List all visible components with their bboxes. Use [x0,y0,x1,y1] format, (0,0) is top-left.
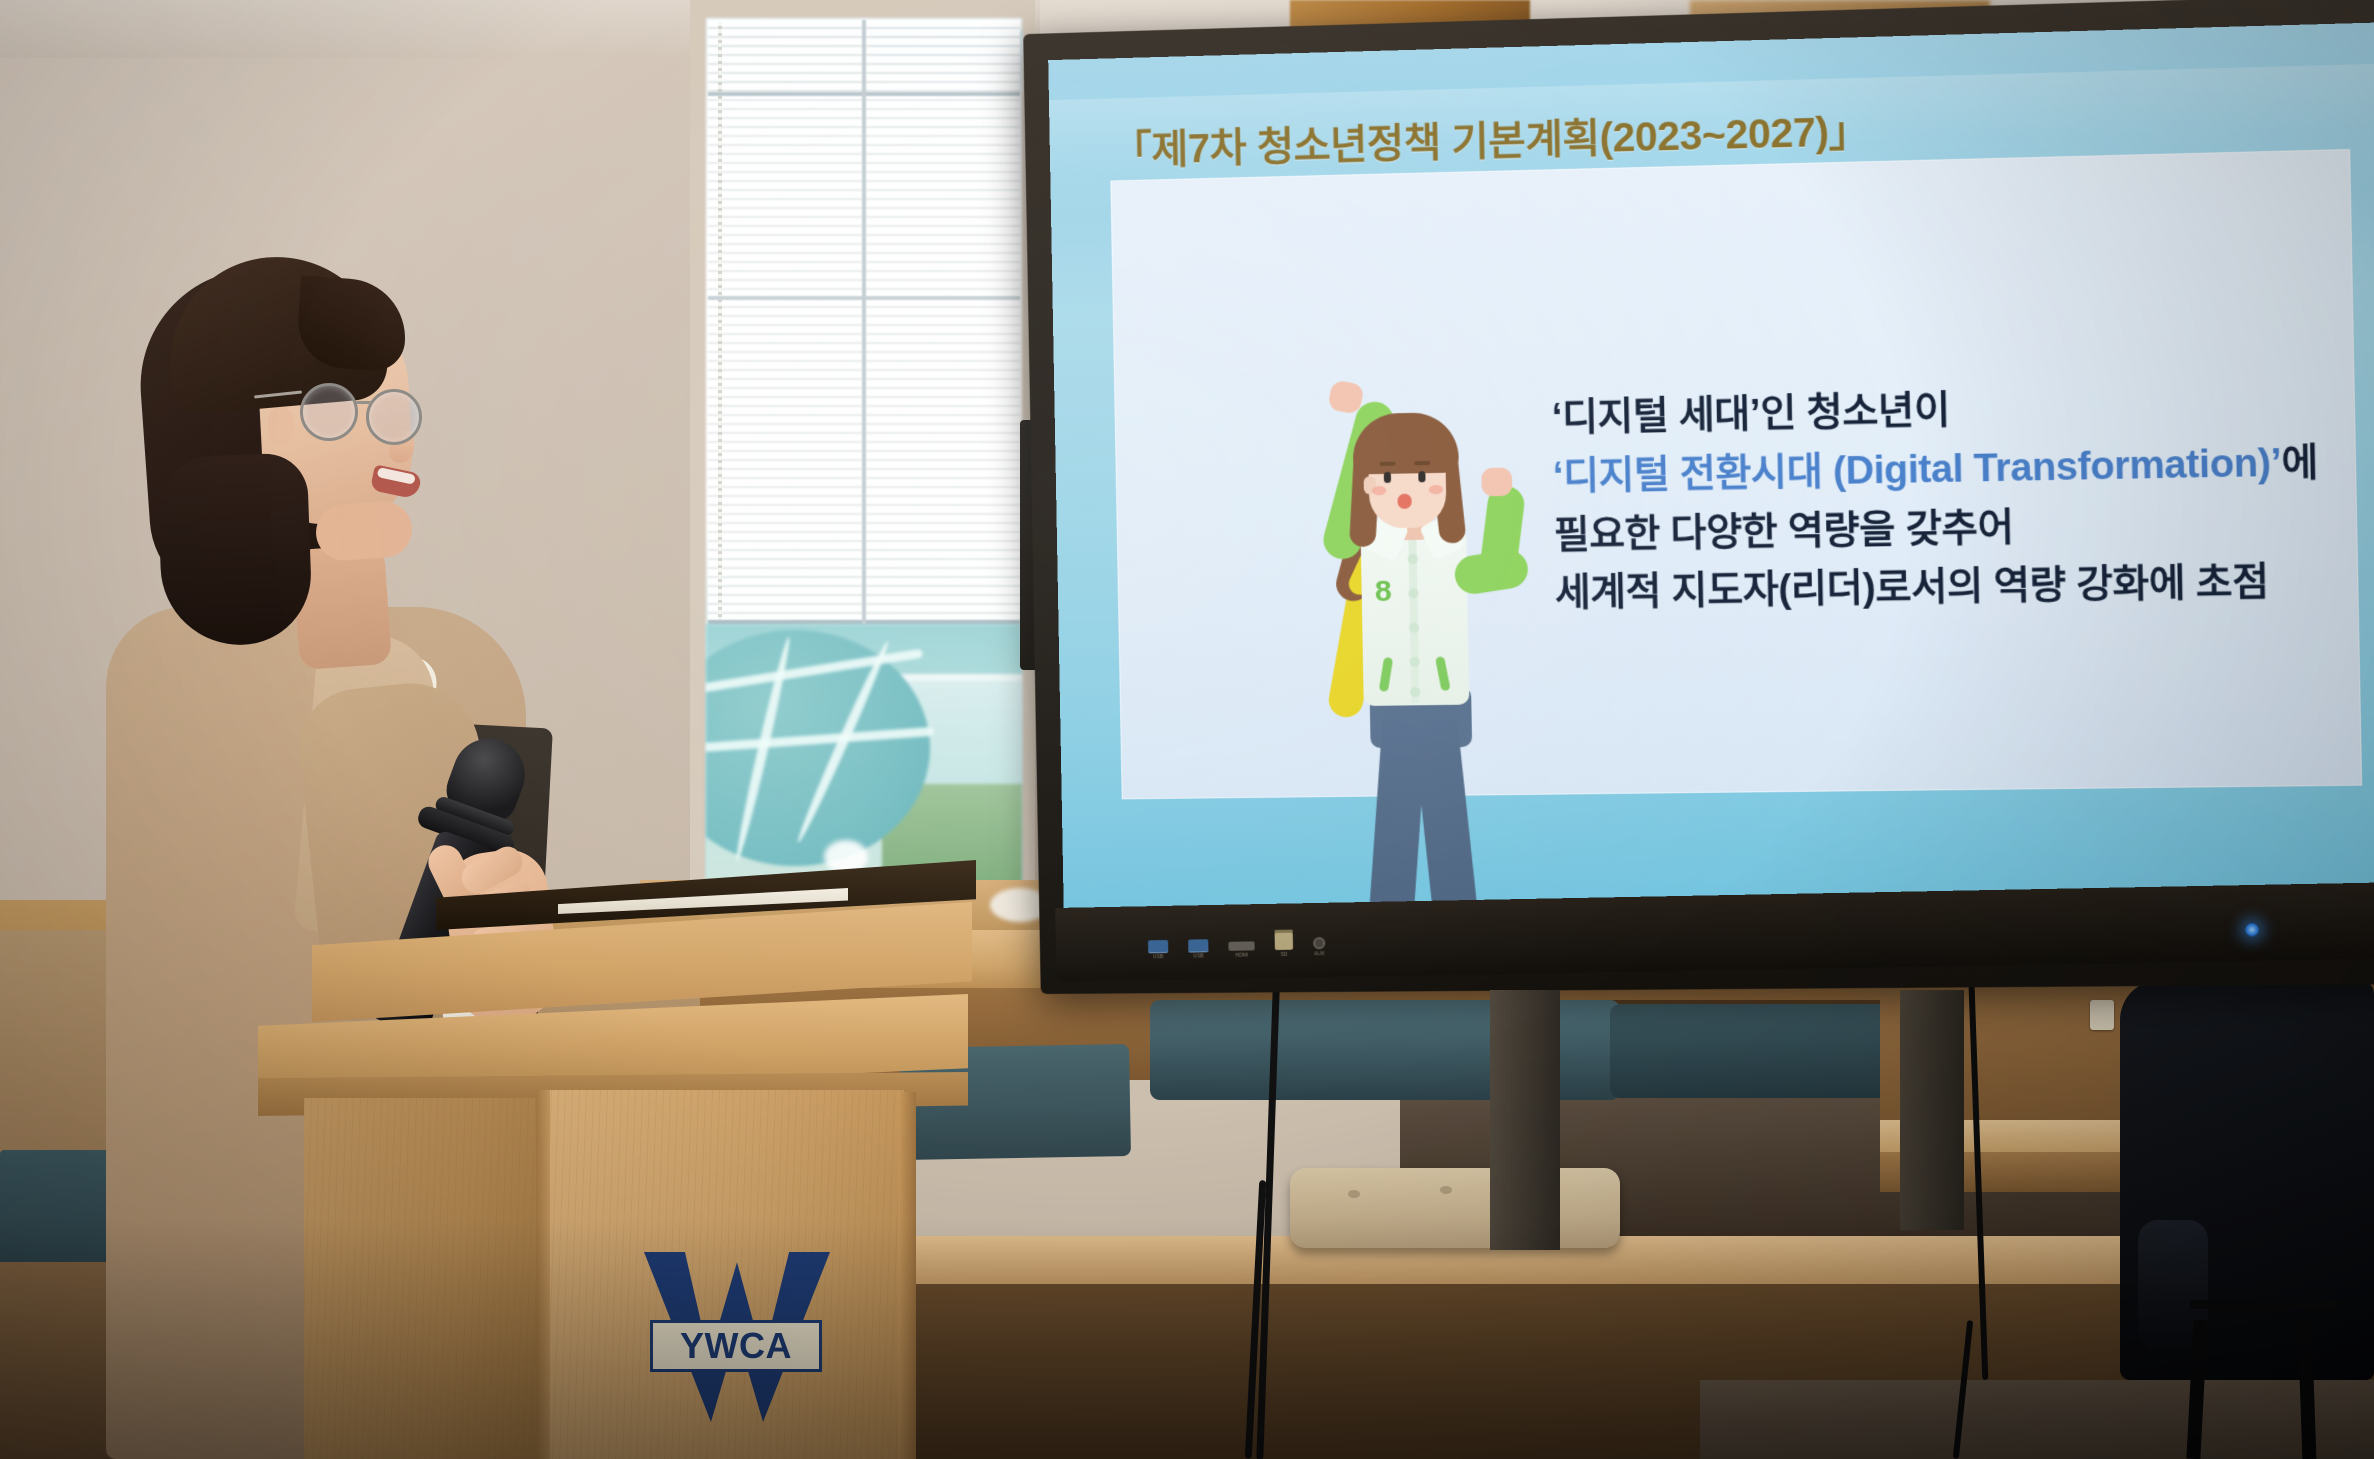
hair-lock [157,452,314,647]
presentation-room-scene: 「제7차 청소년정책 기본계획(2023~2027)」 [0,0,2374,1459]
glasses-lens [300,383,358,441]
ear [268,407,294,445]
beige-floor-cushion [1290,1168,1620,1248]
glasses-lens [366,389,422,445]
ywca-lectern: YWCA [258,922,968,1459]
ywca-wordmark: YWCA [680,1328,792,1364]
chin [314,500,414,563]
eye [1384,472,1391,483]
wall-socket[interactable] [2090,1000,2114,1030]
floor-right [1700,1380,2374,1459]
lectern-left-face [304,1098,544,1459]
right-fist [1481,468,1512,497]
eyebrow [1380,462,1396,466]
chair-crossbar [2190,1300,2340,1309]
mouth [1397,494,1411,509]
sd-card-slot-icon[interactable]: SD [1275,930,1294,958]
lectern-right-edge [898,1092,916,1459]
slide-body-line-4: 세계적 지도자(리더)로서의 역량 강화에 초점 [1554,552,2335,623]
display-port-cluster[interactable]: USB USB HDMI SD AUX [1148,929,1326,960]
slide-content-panel: 8 [1110,149,2362,799]
lectern-corner [536,1090,550,1459]
slide-canvas: 「제7차 청소년정책 기본계획(2023~2027)」 [1048,22,2374,912]
audio-jack-icon[interactable]: AUX [1313,937,1325,957]
ywca-logo: YWCA [644,1252,830,1422]
cheering-youth-illustration: 8 [1263,400,1545,912]
round-glasses [296,383,440,453]
slide-body-line-2-highlight: ‘디지털 전환시대 (Digital Transformation)’ [1552,442,2281,498]
display-screen[interactable]: 「제7차 청소년정책 기본계획(2023~2027)」 [1048,22,2374,912]
glasses-bridge [356,401,372,404]
eye [1418,471,1425,482]
eyebrow [1414,461,1430,465]
display-stand-column [1490,990,1560,1250]
presentation-display[interactable]: 「제7차 청소년정책 기본계획(2023~2027)」 [1032,34,2374,994]
teal-globe-mural [706,624,1022,888]
hair-back [1263,400,1535,405]
slide-body-line-2-suffix: 에 [2281,441,2318,485]
usb-port-icon[interactable]: USB [1188,939,1208,959]
jacket-number: 8 [1375,577,1392,607]
hdmi-port-icon[interactable]: HDMI [1228,941,1254,959]
power-led-indicator [2245,923,2259,937]
ywca-wordmark-band: YWCA [650,1320,822,1372]
display-stand-column [1900,990,1964,1230]
slide-body-text: ‘디지털 세대’인 청소년이 ‘디지털 전환시대 (Digital Transf… [1551,374,2335,624]
usb-port-icon[interactable]: USB [1148,940,1168,960]
